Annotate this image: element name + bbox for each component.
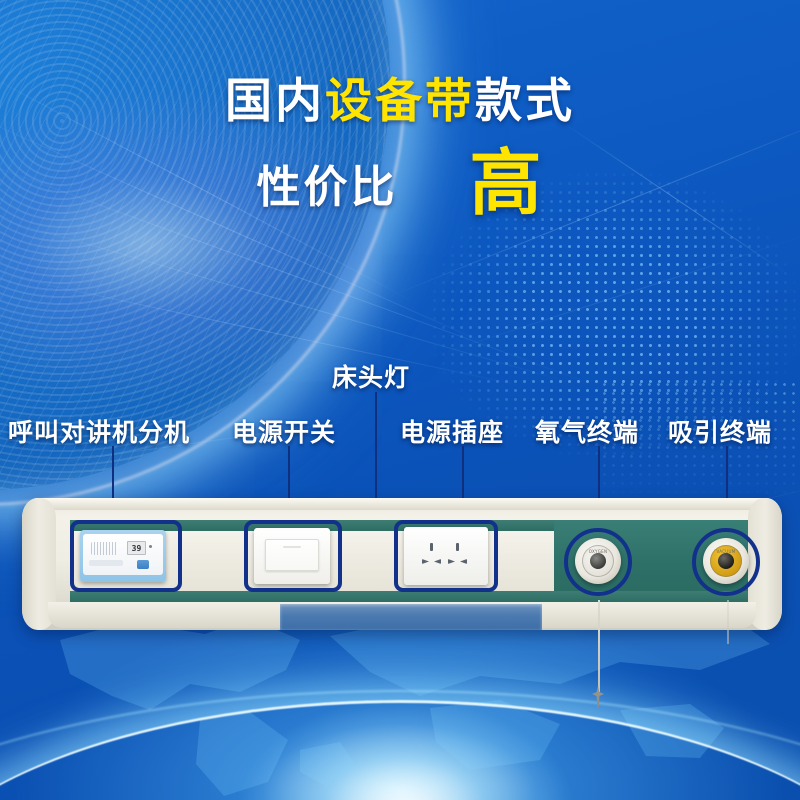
bed-lamp-diffuser (280, 604, 542, 630)
headline-part-3: 款式 (475, 74, 575, 129)
value-text: 性价比 (256, 151, 397, 215)
highlight-box-intercom (70, 520, 182, 592)
medical-bed-head-unit: 39 OXYGEN (22, 498, 782, 630)
suction-hose-cord (727, 600, 729, 644)
oxygen-hose-cord (598, 600, 600, 692)
callout-label-intercom: 呼叫对讲机分机 (8, 413, 190, 449)
callout-label-bed-lamp: 床头灯 (332, 358, 410, 394)
callout-label-power-switch: 电源开关 (232, 413, 336, 449)
headline-part-1: 国内 (225, 74, 325, 129)
callout-label-power-socket: 电源插座 (400, 413, 504, 449)
highlight-box-power-switch (244, 520, 342, 592)
horizon-glow (240, 700, 570, 800)
highlight-box-power-socket (394, 520, 498, 592)
headline-part-2-highlight: 设备带 (325, 74, 475, 129)
value-emphasis: 高 (469, 147, 543, 219)
headline-block: 国内设备带款式 性价比 高 (0, 78, 800, 219)
headline-line-2: 性价比 高 (0, 147, 800, 219)
callout-label-suction: 吸引终端 (668, 413, 772, 449)
highlight-circle-oxygen (564, 528, 632, 596)
highlight-circle-suction (692, 528, 760, 596)
headline-line-1: 国内设备带款式 (0, 78, 800, 125)
promo-banner: 国内设备带款式 性价比 高 呼叫对讲机分机 电源开关 床头灯 电源插座 氧气终端… (0, 0, 800, 800)
callout-label-oxygen: 氧气终端 (535, 413, 639, 449)
trim-band-bottom (70, 591, 766, 602)
